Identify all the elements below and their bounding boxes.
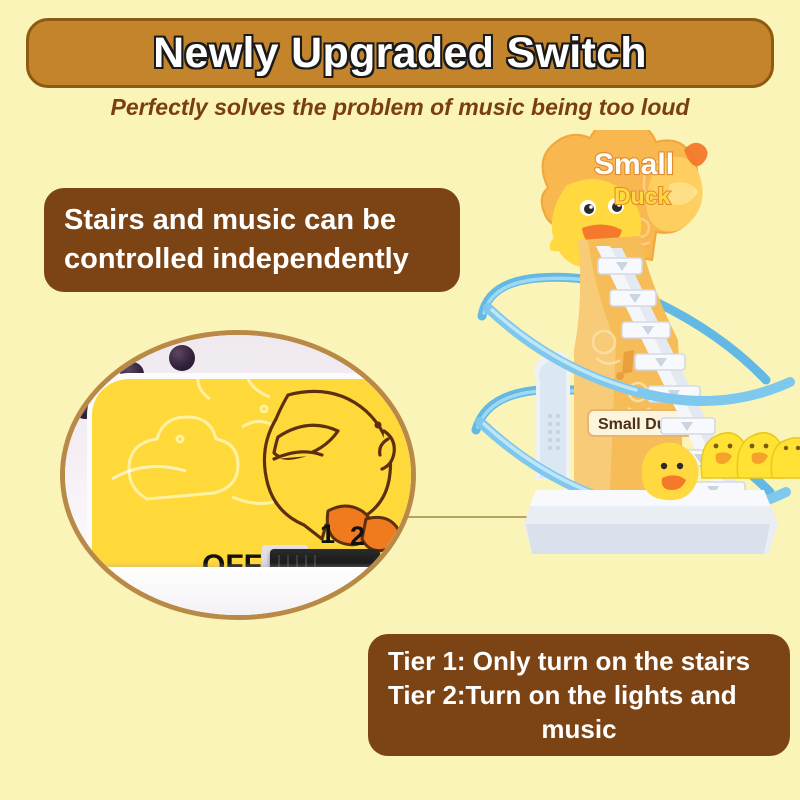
header-banner: Newly Upgraded Switch bbox=[26, 18, 774, 88]
callout-tier-line2: Tier 2:Turn on the lights and bbox=[388, 678, 770, 712]
duck-print-panel: OFF ON 1 2 bbox=[87, 373, 416, 571]
callout-tier-line1: Tier 1: Only turn on the stairs bbox=[388, 644, 770, 678]
duck-figures bbox=[701, 433, 800, 478]
callout-independent-line2: controlled independently bbox=[64, 240, 440, 279]
switch-magnifier-circle: OFF ON 1 2 bbox=[60, 330, 416, 620]
switch-position-2-label: 2 bbox=[350, 521, 365, 552]
page-title: Newly Upgraded Switch bbox=[153, 29, 647, 78]
sign-text-small: Small bbox=[594, 148, 674, 181]
callout-tier-description: Tier 1: Only turn on the stairs Tier 2:T… bbox=[368, 634, 790, 756]
toy-base-shelf bbox=[60, 567, 416, 620]
poster-canvas: Newly Upgraded Switch Perfectly solves t… bbox=[0, 0, 800, 800]
switch-position-1-label: 1 bbox=[320, 519, 335, 550]
sign-text-duck: Duck bbox=[614, 183, 670, 209]
callout-independent-line1: Stairs and music can be bbox=[64, 201, 440, 240]
duck-artwork bbox=[92, 379, 416, 571]
magnifier-contents: OFF ON 1 2 bbox=[65, 335, 411, 615]
subtitle-text: Perfectly solves the problem of music be… bbox=[0, 94, 800, 121]
duck-stair-toy-illustration: Small Duck bbox=[470, 130, 800, 570]
callout-tier-line3: music bbox=[388, 712, 770, 746]
product-base bbox=[524, 490, 778, 554]
callout-independent-control: Stairs and music can be controlled indep… bbox=[44, 188, 460, 292]
product-photo: Small Duck bbox=[470, 130, 800, 570]
speaker-hole-icon bbox=[169, 345, 195, 371]
